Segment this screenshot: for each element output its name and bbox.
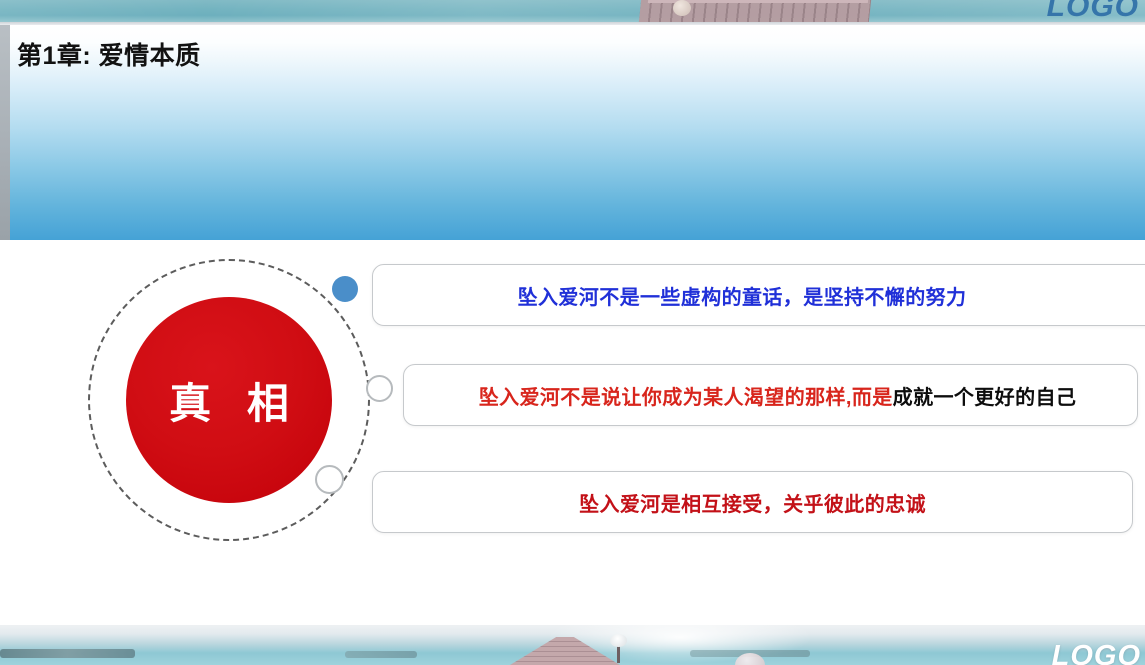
statement-text-1: 坠入爱河不是一些虚构的童话，是坚持不懈的努力 [518,281,1017,310]
logo-top: LOGO [1047,0,1139,24]
logo-bottom: LOGO [1052,640,1141,665]
breakwater-left [0,649,135,658]
sea-haze [0,0,1145,22]
statement-text-2-red: 坠入爱河不是说让你成为某人渴望的那样,而是 [479,387,893,409]
statement-box-3[interactable]: 坠入爱河是相互接受，关乎彼此的忠诚 [372,471,1133,533]
bottom-photo-strip: LOGO [0,625,1145,665]
lamp-globe-bottom [610,634,627,647]
statement-box-1[interactable]: 坠入爱河不是一些虚构的童话，是坚持不懈的努力 [372,264,1145,326]
banner-left-edge [0,25,10,240]
statement-text-2-black: 成就一个更好的自己 [893,387,1077,409]
orbit-node-open-2[interactable] [315,465,344,494]
statement-text-3: 坠入爱河是相互接受，关乎彼此的忠诚 [579,488,926,517]
core-circle-label: 真 相 [157,370,301,431]
lamp-globe-top [673,0,691,16]
orbit-node-open-1[interactable] [366,375,393,402]
orbit-node-filled[interactable] [332,276,358,302]
statement-box-2[interactable]: 坠入爱河不是说让你成为某人渴望的那样,而是成就一个更好的自己 [403,364,1138,426]
core-circle: 真 相 [126,297,332,503]
top-photo-strip [0,0,1145,22]
statement-text-2: 坠入爱河不是说让你成为某人渴望的那样,而是成就一个更好的自己 [465,381,1077,410]
breakwater-mid [345,651,417,658]
presentation-slide: LOGO 第1章: 爱情本质 真 相 坠入爱河不是一些虚构的童话，是坚持不懈的努… [0,0,1145,665]
page-title: 第1章: 爱情本质 [17,36,201,72]
